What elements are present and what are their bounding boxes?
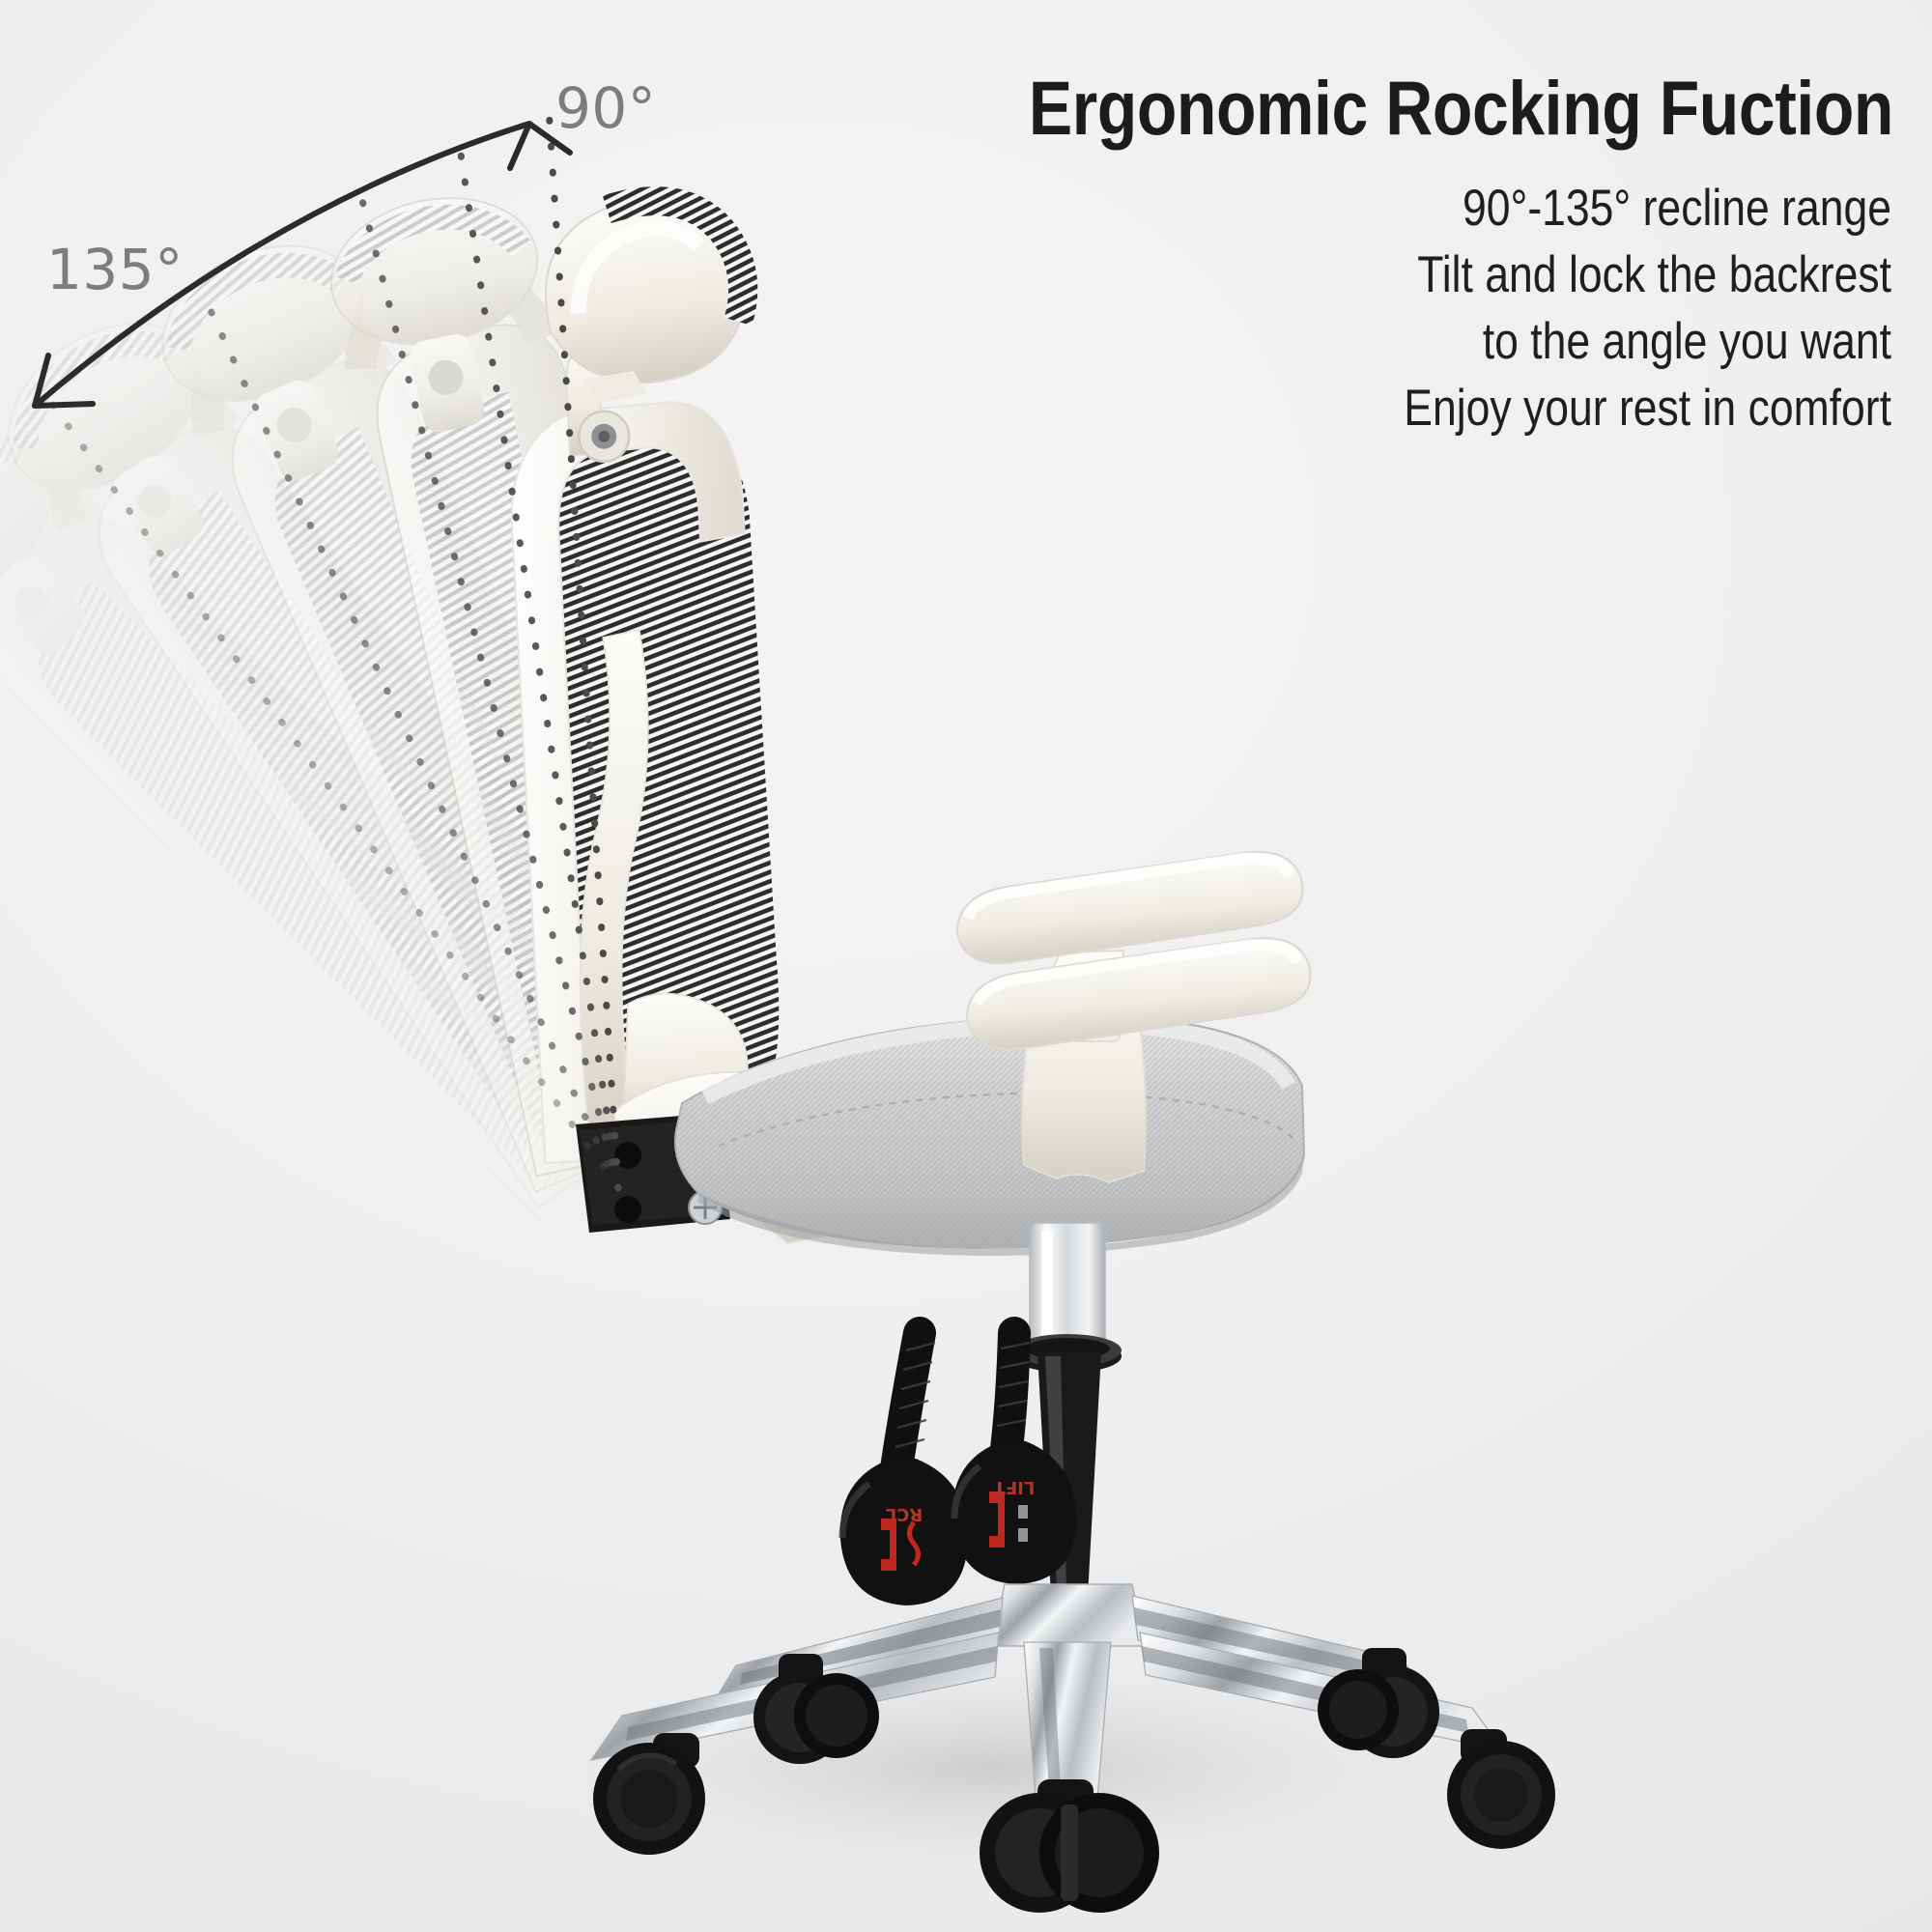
- feature-line-2: Tilt and lock the backrest: [1015, 242, 1891, 309]
- feature-description: 90°-135° recline range Tilt and lock the…: [848, 176, 1891, 442]
- feature-line-3: to the angle you want: [1015, 309, 1891, 376]
- lift-lever-label: LIFT: [993, 1477, 1035, 1497]
- base-arm-front: [1024, 1642, 1111, 1799]
- recline-lever[interactable]: RCL: [840, 1333, 968, 1605]
- product-marketing-image: RCL LIFT: [0, 0, 1932, 1932]
- angle-label-min: 90°: [555, 75, 656, 141]
- recline-lever-label: RCL: [886, 1504, 923, 1524]
- caster-right-near: [1447, 1729, 1555, 1849]
- feature-line-1: 90°-135° recline range: [1015, 176, 1891, 242]
- feature-line-4: Enjoy your rest in comfort: [1015, 376, 1891, 442]
- page-title: Ergonomic Rocking Fuction: [896, 70, 1893, 148]
- angle-label-max: 135°: [46, 237, 184, 302]
